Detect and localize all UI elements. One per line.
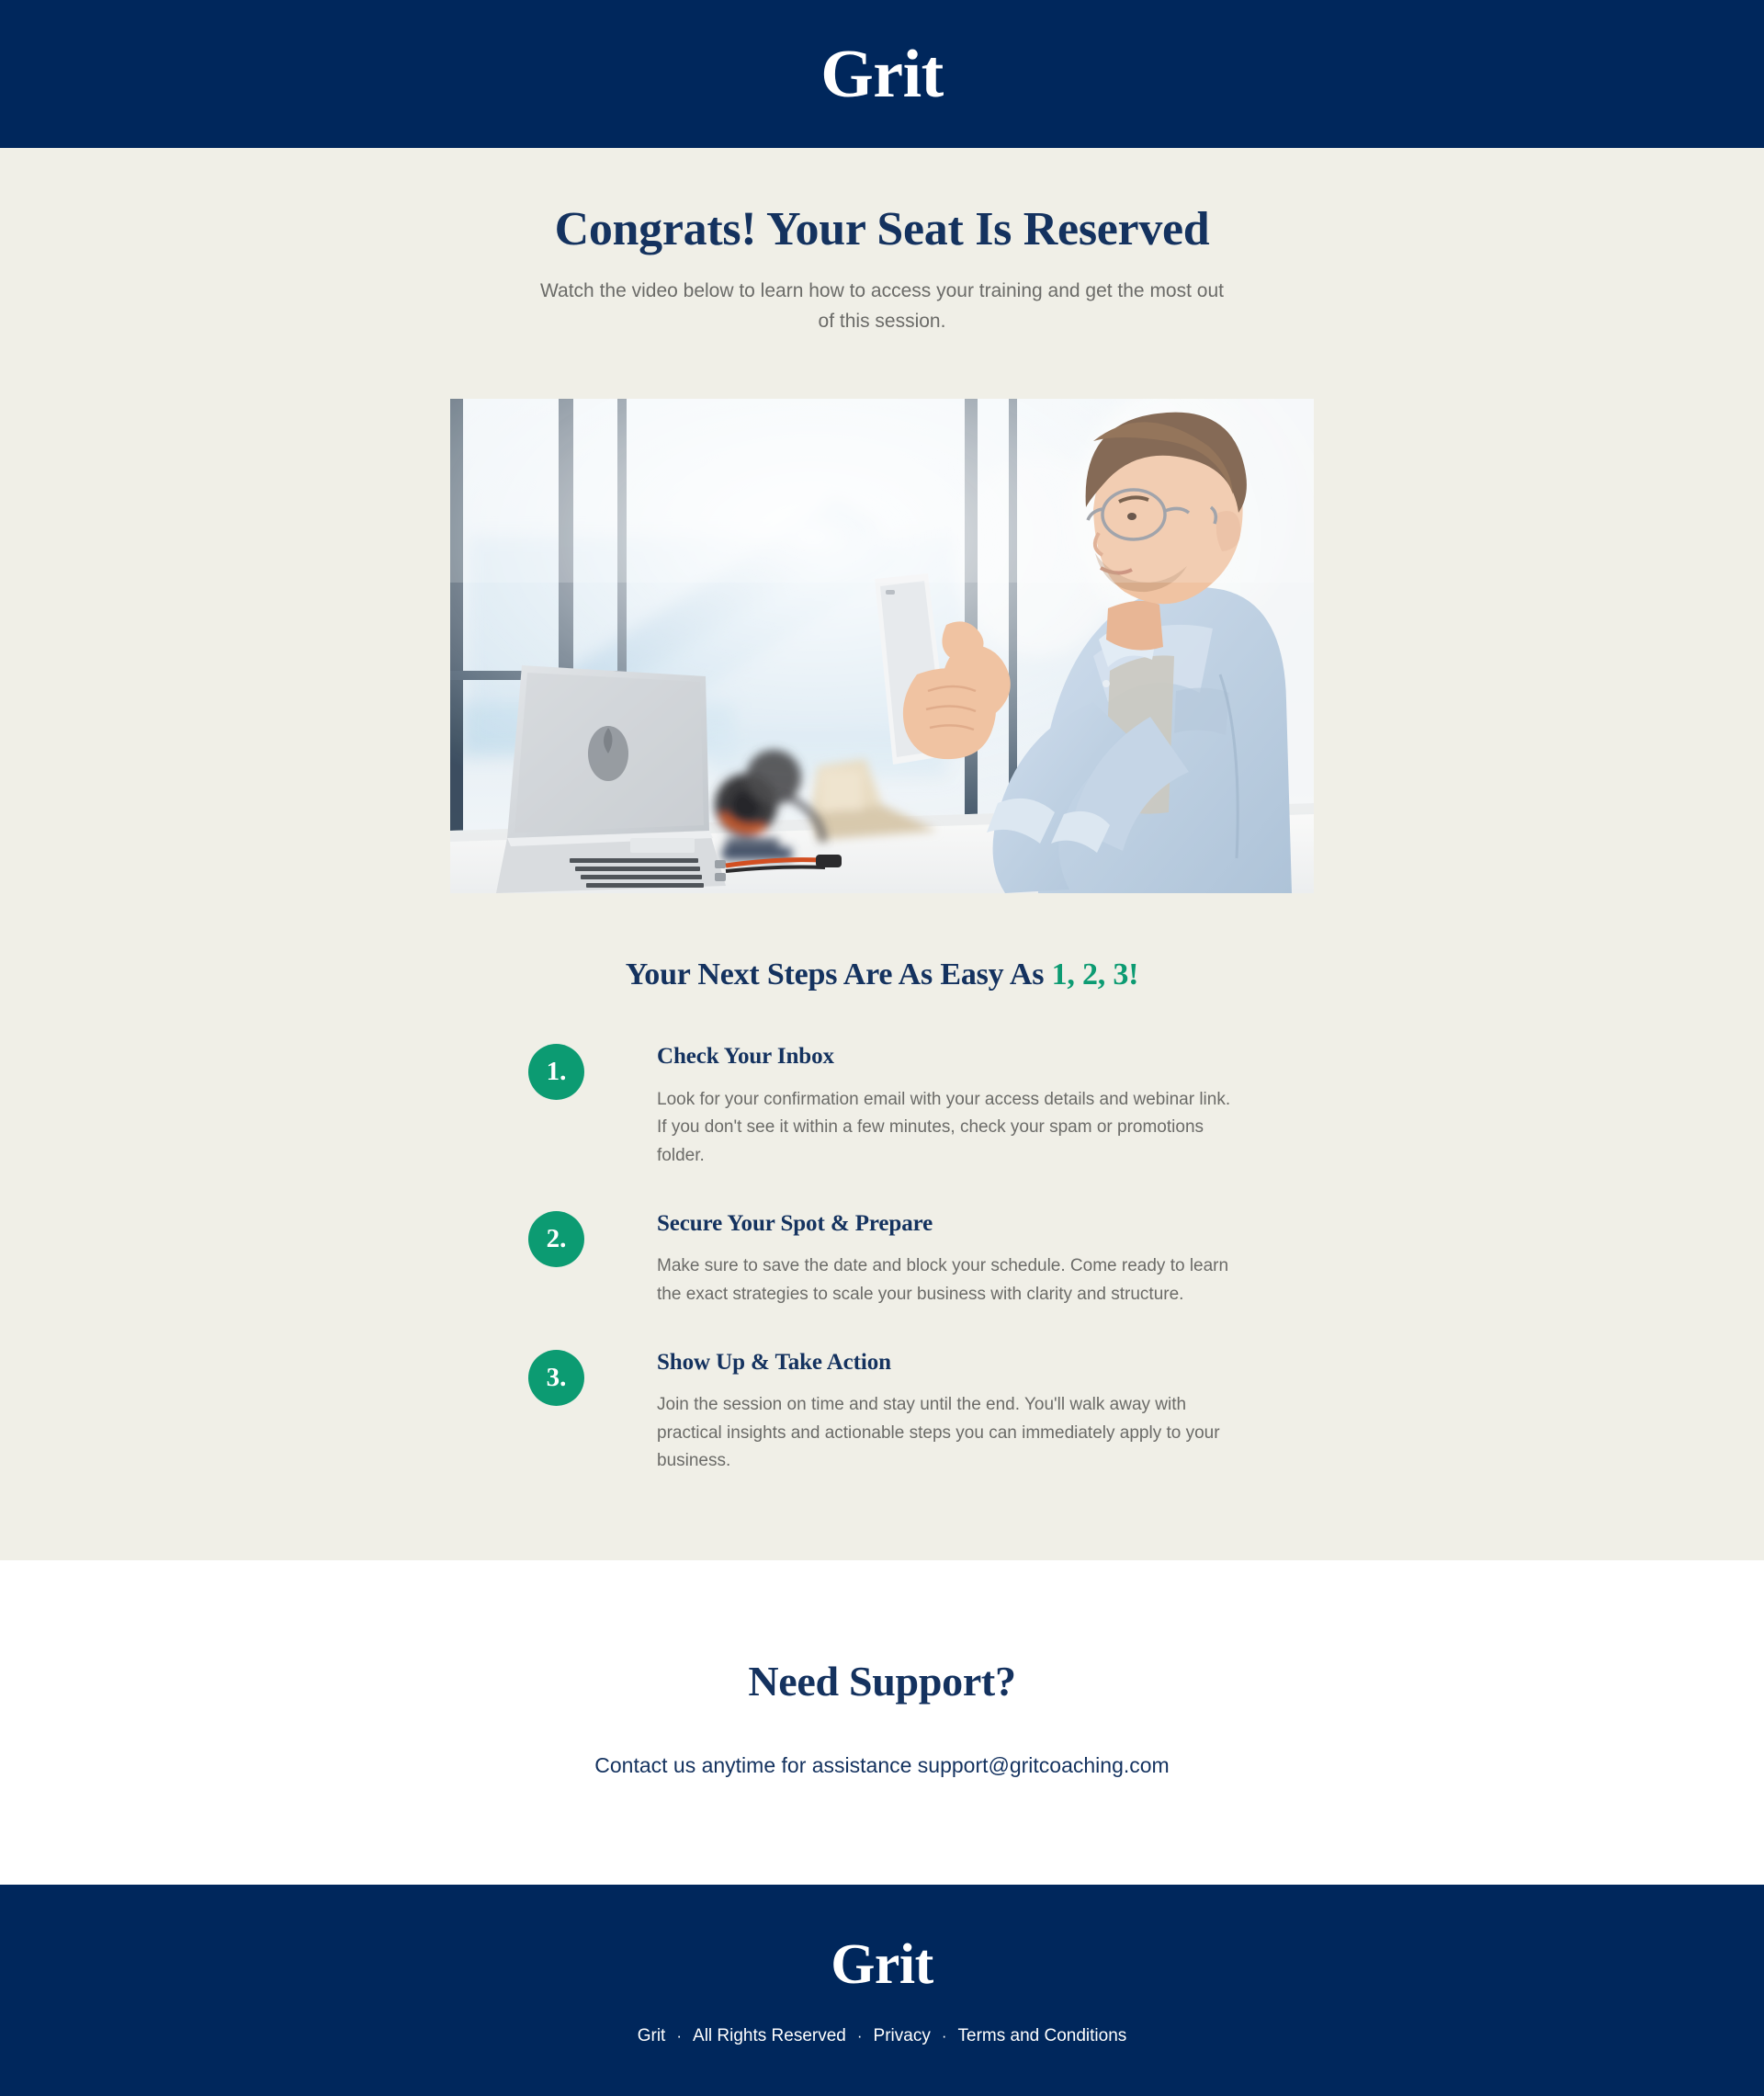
step-item-2: 2. Secure Your Spot & Prepare Make sure … <box>528 1207 1236 1309</box>
footer-link-privacy[interactable]: Privacy <box>874 2026 931 2046</box>
footer-separator: · <box>942 2027 947 2045</box>
footer-brand-logo[interactable]: Grit <box>831 1936 933 1993</box>
steps-heading-main: Your Next Steps Are As Easy As <box>626 957 1052 991</box>
step-item-1: 1. Check Your Inbox Look for your confir… <box>528 1040 1236 1171</box>
hero-photo <box>450 399 1314 893</box>
step-title: Secure Your Spot & Prepare <box>657 1209 1236 1238</box>
page-subtitle: Watch the video below to learn how to ac… <box>533 277 1231 336</box>
page-title: Congrats! Your Seat Is Reserved <box>450 203 1314 256</box>
step-item-3: 3. Show Up & Take Action Join the sessio… <box>528 1346 1236 1477</box>
step-body: Check Your Inbox Look for your confirmat… <box>657 1040 1236 1171</box>
footer-separator: · <box>676 2027 682 2045</box>
support-section: Need Support? Contact us anytime for ass… <box>0 1560 1764 1885</box>
step-number-badge: 2. <box>528 1211 584 1267</box>
main-content: Congrats! Your Seat Is Reserved Watch th… <box>0 148 1764 1560</box>
step-title: Show Up & Take Action <box>657 1348 1236 1377</box>
footer-link-rights: All Rights Reserved <box>693 2026 846 2046</box>
site-footer: Grit Grit · All Rights Reserved · Privac… <box>0 1885 1764 2096</box>
step-description: Make sure to save the date and block you… <box>657 1252 1236 1309</box>
support-title: Need Support? <box>0 1657 1764 1705</box>
footer-links: Grit · All Rights Reserved · Privacy · T… <box>0 2026 1764 2046</box>
step-description: Look for your confirmation email with yo… <box>657 1086 1236 1171</box>
steps-list: 1. Check Your Inbox Look for your confir… <box>528 1040 1236 1476</box>
footer-link-grit: Grit <box>638 2026 666 2046</box>
footer-link-terms[interactable]: Terms and Conditions <box>958 2026 1127 2046</box>
hero-container: Congrats! Your Seat Is Reserved Watch th… <box>450 203 1314 336</box>
footer-separator: · <box>857 2027 863 2045</box>
brand-logo[interactable]: Grit <box>820 40 944 108</box>
support-contact-text[interactable]: Contact us anytime for assistance suppor… <box>0 1750 1764 1782</box>
step-body: Show Up & Take Action Join the session o… <box>657 1346 1236 1477</box>
step-number-badge: 1. <box>528 1044 584 1100</box>
step-body: Secure Your Spot & Prepare Make sure to … <box>657 1207 1236 1309</box>
step-title: Check Your Inbox <box>657 1042 1236 1071</box>
site-header: Grit <box>0 0 1764 148</box>
step-number-badge: 3. <box>528 1350 584 1406</box>
video-player[interactable] <box>450 399 1314 893</box>
steps-heading-accent: 1, 2, 3! <box>1052 957 1139 991</box>
step-description: Join the session on time and stay until … <box>657 1391 1236 1476</box>
steps-heading: Your Next Steps Are As Easy As 1, 2, 3! <box>0 957 1764 992</box>
